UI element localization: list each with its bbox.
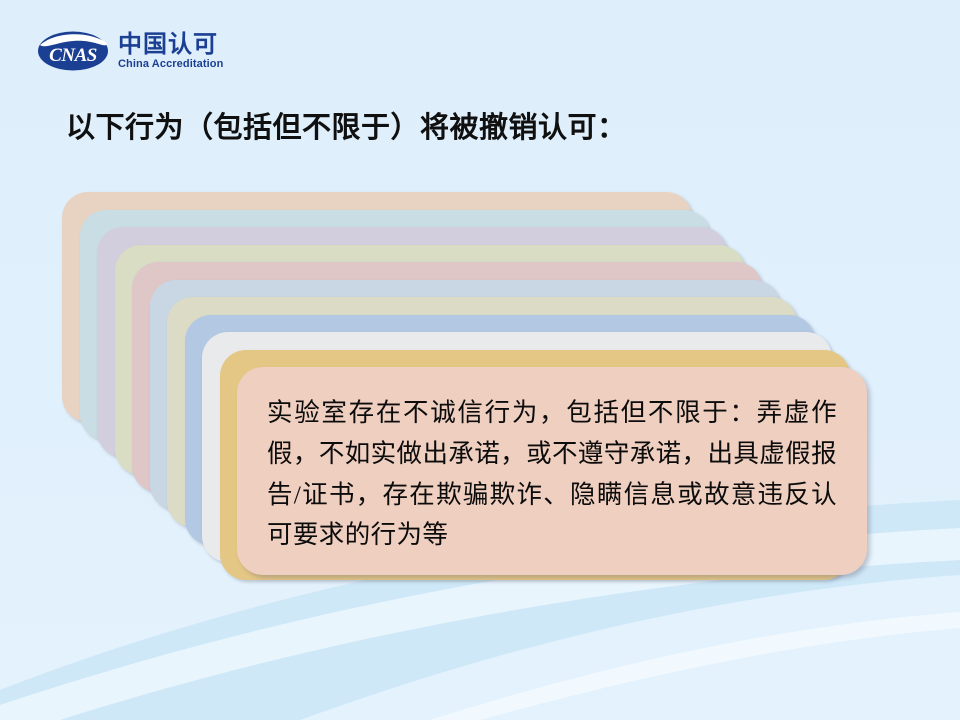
front-card-text: 实验室存在不诚信行为，包括但不限于：弄虚作假，不如实做出承诺，或不遵守承诺，出具… [267,393,837,556]
slide-canvas: CNAS 中国认可 China Accreditation 以下行为（包括但不限… [0,0,960,720]
front-content-card: 实验室存在不诚信行为，包括但不限于：弄虚作假，不如实做出承诺，或不遵守承诺，出具… [237,367,867,575]
card-stack: 实验室存在不诚信行为，包括但不限于：弄虚作假，不如实做出承诺，或不遵守承诺，出具… [0,0,960,720]
